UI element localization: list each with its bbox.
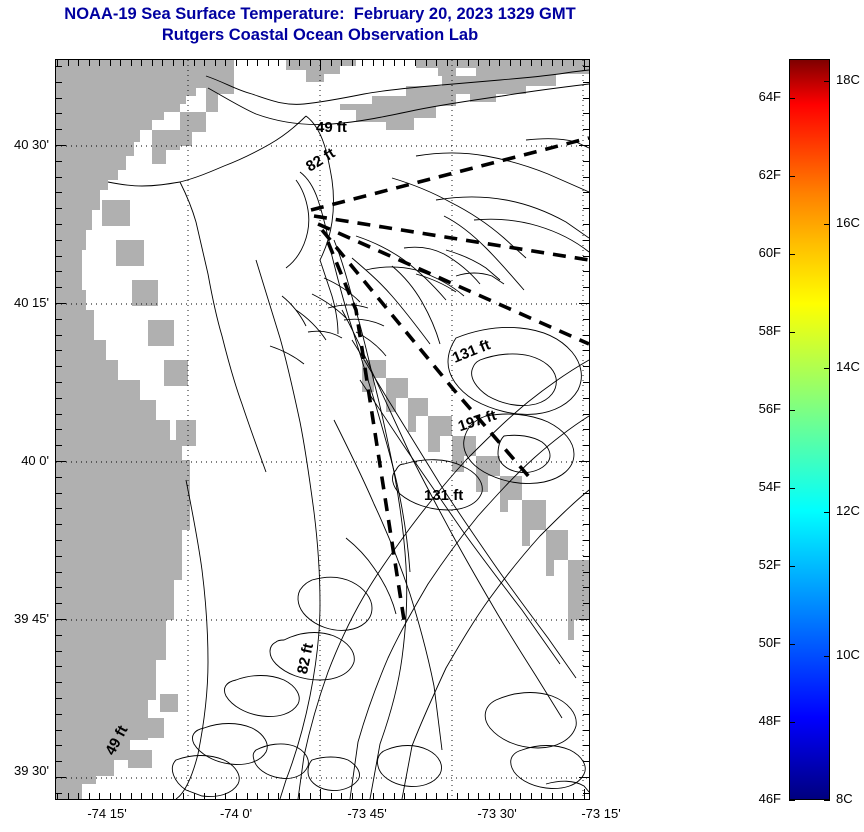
x-tick [531, 793, 532, 799]
y-tick-right [583, 793, 589, 794]
x-tick [215, 793, 216, 799]
x-tick-top [499, 60, 500, 66]
sst-map-plot-area[interactable] [55, 59, 590, 800]
x-tick [278, 793, 279, 799]
y-tick-right [583, 745, 589, 746]
y-tick [56, 98, 62, 99]
colorbar-f-tick [789, 332, 795, 333]
y-tick-right [583, 66, 589, 67]
y-tick-right [583, 224, 589, 225]
x-tick [131, 793, 132, 799]
x-tick-top [584, 60, 585, 70]
y-tick [56, 635, 62, 636]
x-tick [68, 793, 69, 799]
y-tick-right [579, 461, 589, 462]
y-tick-right [579, 303, 589, 304]
y-tick [56, 682, 62, 683]
y-tick-right [583, 335, 589, 336]
y-tick-right [579, 619, 589, 620]
x-tick-top [436, 60, 437, 66]
y-tick [56, 161, 62, 162]
x-tick [120, 793, 121, 799]
x-tick [99, 793, 100, 799]
x-tick-top [89, 60, 90, 66]
x-tick-top [552, 60, 553, 66]
x-tick-top [468, 60, 469, 66]
y-tick-right [583, 429, 589, 430]
x-tick-top [541, 60, 542, 66]
y-tick-right [583, 240, 589, 241]
x-tick-top [562, 60, 563, 66]
x-tick-top [331, 60, 332, 66]
colorbar-f-label: 62F [727, 167, 781, 182]
y-tick [56, 319, 62, 320]
y-tick-right [583, 177, 589, 178]
x-tick-top [152, 60, 153, 66]
x-tick [447, 793, 448, 799]
y-tick [56, 540, 62, 541]
y-axis-label: 40 15' [0, 295, 49, 310]
colorbar-f-tick [789, 254, 795, 255]
x-axis-label: -74 15' [62, 806, 152, 821]
x-tick-top [247, 60, 248, 66]
colorbar-f-tick [789, 644, 795, 645]
colorbar-c-label: 12C [836, 503, 860, 518]
y-tick-right [583, 98, 589, 99]
x-tick [204, 793, 205, 799]
y-tick [56, 335, 62, 336]
y-tick [56, 777, 66, 778]
y-tick [56, 82, 62, 83]
x-tick-top [362, 60, 363, 66]
colorbar-c-label: 10C [836, 647, 860, 662]
x-tick-top [68, 60, 69, 66]
x-tick [236, 793, 237, 799]
chart-title-block: NOAA-19 Sea Surface Temperature: Februar… [0, 4, 640, 46]
x-tick-top [183, 60, 184, 66]
colorbar-c-label: 14C [836, 359, 860, 374]
colorbar-f-label: 58F [727, 323, 781, 338]
x-tick-top [478, 60, 479, 66]
y-axis-label: 39 30' [0, 763, 49, 778]
y-tick [56, 761, 62, 762]
x-tick-top [120, 60, 121, 66]
y-tick [56, 666, 62, 667]
y-tick-right [583, 398, 589, 399]
x-tick [289, 793, 290, 799]
x-tick [426, 793, 427, 799]
colorbar-f-label: 48F [727, 713, 781, 728]
x-tick [468, 793, 469, 799]
y-tick [56, 493, 62, 494]
x-axis-label: -73 15' [556, 806, 646, 821]
x-tick-top [573, 60, 574, 66]
x-tick [436, 793, 437, 799]
x-tick [78, 793, 79, 799]
x-tick [173, 793, 174, 799]
x-tick [352, 793, 353, 799]
colorbar-c-tick [824, 800, 830, 801]
x-tick-top [110, 60, 111, 66]
y-tick [56, 129, 62, 130]
y-tick-right [583, 572, 589, 573]
colorbar-f-label: 52F [727, 557, 781, 572]
x-tick [457, 793, 458, 799]
y-tick [56, 256, 62, 257]
colorbar-f-label: 46F [727, 791, 781, 806]
x-tick [183, 793, 184, 799]
y-tick-right [583, 540, 589, 541]
x-tick [552, 793, 553, 799]
y-tick [56, 145, 66, 146]
x-tick-top [131, 60, 132, 66]
y-tick [56, 398, 62, 399]
y-tick-right [583, 382, 589, 383]
y-tick [56, 177, 62, 178]
y-axis-label: 39 45' [0, 611, 49, 626]
x-axis-label: -74 0' [191, 806, 281, 821]
colorbar-c-tick [824, 512, 830, 513]
y-tick [56, 587, 62, 588]
y-tick [56, 619, 66, 620]
y-tick-right [583, 698, 589, 699]
depth-contour-label: 49 ft [316, 119, 347, 136]
x-tick-top [173, 60, 174, 66]
y-tick-right [583, 682, 589, 683]
colorbar-f-tick [789, 800, 795, 801]
y-tick [56, 429, 62, 430]
x-tick [562, 793, 563, 799]
y-tick-right [583, 271, 589, 272]
y-tick [56, 240, 62, 241]
y-tick [56, 303, 66, 304]
y-tick [56, 508, 62, 509]
y-tick-right [583, 493, 589, 494]
x-tick [362, 793, 363, 799]
x-tick-top [78, 60, 79, 66]
x-tick [141, 793, 142, 799]
x-tick-top [447, 60, 448, 66]
y-tick-right [583, 603, 589, 604]
colorbar-f-label: 54F [727, 479, 781, 494]
colorbar-f-label: 60F [727, 245, 781, 260]
x-tick-top [489, 60, 490, 66]
y-tick-right [583, 651, 589, 652]
y-tick [56, 271, 62, 272]
y-tick-right [583, 161, 589, 162]
y-tick [56, 556, 62, 557]
x-tick [373, 793, 374, 799]
y-tick-right [583, 366, 589, 367]
y-tick-right [583, 256, 589, 257]
y-tick [56, 113, 62, 114]
y-tick [56, 66, 62, 67]
y-tick [56, 651, 62, 652]
y-tick-right [583, 287, 589, 288]
y-tick [56, 477, 62, 478]
colorbar-f-tick [789, 722, 795, 723]
y-tick-right [583, 350, 589, 351]
x-tick [310, 793, 311, 799]
x-tick-top [457, 60, 458, 66]
x-tick-top [531, 60, 532, 66]
y-tick-right [583, 113, 589, 114]
x-tick-top [404, 60, 405, 66]
y-tick-right [583, 761, 589, 762]
x-tick [573, 793, 574, 799]
x-tick [268, 793, 269, 799]
x-axis-label: -73 30' [452, 806, 542, 821]
x-tick-top [299, 60, 300, 66]
y-tick [56, 603, 62, 604]
x-tick-top [289, 60, 290, 66]
y-tick [56, 793, 62, 794]
depth-contour-label: 131 ft [424, 487, 463, 504]
y-tick [56, 350, 62, 351]
x-tick [194, 793, 195, 799]
x-tick-top [162, 60, 163, 66]
y-tick-right [583, 208, 589, 209]
y-tick-right [583, 477, 589, 478]
x-tick [341, 793, 342, 799]
y-tick [56, 745, 62, 746]
x-tick-top [415, 60, 416, 66]
colorbar-f-tick [789, 410, 795, 411]
colorbar-c-tick [824, 656, 830, 657]
y-tick [56, 698, 62, 699]
y-tick [56, 445, 62, 446]
x-tick [89, 793, 90, 799]
x-tick-top [225, 60, 226, 66]
x-tick-top [141, 60, 142, 66]
colorbar-c-label: 18C [836, 72, 860, 87]
x-tick [394, 793, 395, 799]
y-tick [56, 224, 62, 225]
y-tick [56, 287, 62, 288]
y-tick-right [583, 556, 589, 557]
y-tick [56, 572, 62, 573]
colorbar-f-tick [789, 176, 795, 177]
x-tick-top [520, 60, 521, 66]
y-tick-right [583, 192, 589, 193]
x-tick [584, 789, 585, 799]
x-tick [415, 793, 416, 799]
y-tick-right [579, 777, 589, 778]
y-tick-right [583, 666, 589, 667]
x-tick-top [215, 60, 216, 66]
x-axis-label: -73 45' [322, 806, 412, 821]
sst-map-canvas [56, 60, 589, 799]
x-tick [110, 793, 111, 799]
colorbar-f-label: 64F [727, 89, 781, 104]
colorbar-c-tick [824, 368, 830, 369]
y-tick-right [583, 414, 589, 415]
x-tick [383, 793, 384, 799]
temperature-colorbar[interactable] [789, 59, 830, 800]
x-tick [520, 793, 521, 799]
x-tick-top [383, 60, 384, 66]
x-tick [489, 793, 490, 799]
title-line-1: NOAA-19 Sea Surface Temperature: Februar… [0, 4, 640, 25]
y-tick-right [583, 730, 589, 731]
y-tick-right [583, 587, 589, 588]
y-tick-right [583, 445, 589, 446]
colorbar-gradient [789, 59, 830, 800]
x-tick [257, 793, 258, 799]
x-tick-top [394, 60, 395, 66]
x-tick-top [204, 60, 205, 66]
x-tick [152, 793, 153, 799]
x-tick [541, 793, 542, 799]
y-tick-right [583, 129, 589, 130]
x-tick [331, 793, 332, 799]
x-tick [320, 789, 321, 799]
colorbar-f-label: 50F [727, 635, 781, 650]
colorbar-f-label: 56F [727, 401, 781, 416]
y-tick [56, 461, 66, 462]
x-tick-top [510, 60, 511, 66]
x-tick [247, 793, 248, 799]
x-tick-top [341, 60, 342, 66]
x-tick-top [268, 60, 269, 66]
y-axis-label: 40 0' [0, 453, 49, 468]
x-tick-top [236, 60, 237, 66]
y-tick [56, 208, 62, 209]
y-tick-right [583, 82, 589, 83]
colorbar-f-tick [789, 566, 795, 567]
x-tick-top [194, 60, 195, 66]
colorbar-c-label: 16C [836, 215, 860, 230]
x-tick-top [99, 60, 100, 66]
y-tick-right [583, 508, 589, 509]
x-tick [510, 793, 511, 799]
y-tick [56, 524, 62, 525]
x-tick-top [278, 60, 279, 66]
y-tick [56, 730, 62, 731]
colorbar-c-tick [824, 224, 830, 225]
x-tick-top [426, 60, 427, 66]
x-tick [225, 793, 226, 799]
x-tick [299, 793, 300, 799]
x-tick-top [320, 60, 321, 70]
colorbar-f-tick [789, 98, 795, 99]
y-tick [56, 714, 62, 715]
x-tick-top [373, 60, 374, 66]
x-tick [499, 793, 500, 799]
y-tick-right [583, 524, 589, 525]
y-tick-right [583, 319, 589, 320]
y-tick [56, 414, 62, 415]
x-tick [478, 793, 479, 799]
y-axis-label: 40 30' [0, 137, 49, 152]
x-tick [404, 793, 405, 799]
colorbar-c-label: 8C [836, 791, 853, 806]
y-tick [56, 366, 62, 367]
colorbar-c-tick [824, 81, 830, 82]
y-tick [56, 382, 62, 383]
x-tick-top [257, 60, 258, 66]
x-tick [162, 793, 163, 799]
colorbar-f-tick [789, 488, 795, 489]
x-tick-top [352, 60, 353, 66]
y-tick-right [583, 635, 589, 636]
x-tick-top [310, 60, 311, 66]
y-tick [56, 192, 62, 193]
title-line-2: Rutgers Coastal Ocean Observation Lab [0, 25, 640, 46]
y-tick-right [583, 714, 589, 715]
y-tick-right [579, 145, 589, 146]
